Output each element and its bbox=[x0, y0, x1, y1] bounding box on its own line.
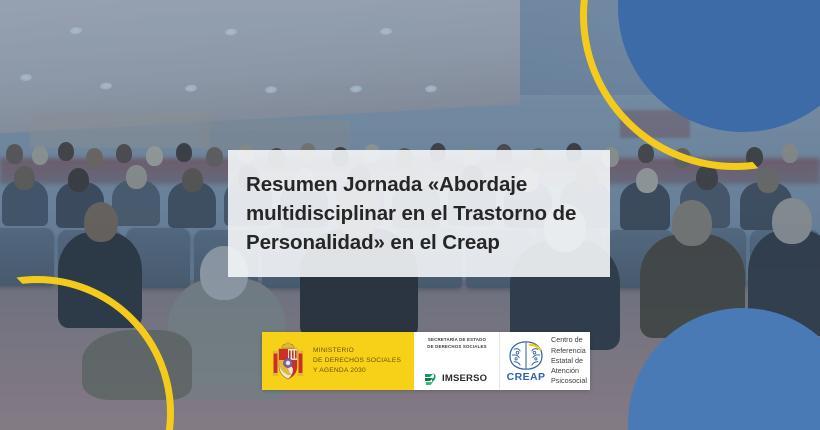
ministry-logo-text: MINISTERIO DE DERECHOS SOCIALES Y AGENDA… bbox=[313, 346, 401, 376]
creap-description: Centro de Referencia Estatal de Atención… bbox=[551, 335, 587, 386]
imserso-logo: SECRETARÍA DE ESTADO DE DERECHOS SOCIALE… bbox=[414, 332, 499, 390]
creap-desc-line-3: Estatal de bbox=[551, 356, 587, 366]
ministry-line-1: MINISTERIO bbox=[313, 346, 401, 356]
creap-desc-line-5: Psicosocial bbox=[551, 376, 587, 386]
imserso-mark-icon bbox=[423, 371, 438, 386]
creap-desc-line-2: Referencia bbox=[551, 346, 587, 356]
imserso-wordmark: IMSERSO bbox=[442, 373, 487, 384]
creap-desc-line-1: Centro de bbox=[551, 335, 587, 345]
title-card: Resumen Jornada «Abordaje multidisciplin… bbox=[228, 150, 610, 277]
ministry-logo: MINISTERIO DE DERECHOS SOCIALES Y AGENDA… bbox=[262, 332, 414, 390]
page-title: Resumen Jornada «Abordaje multidisciplin… bbox=[228, 170, 610, 257]
creap-wordmark: CREAP bbox=[507, 371, 546, 383]
secretary-line-2: DE DERECHOS SOCIALES bbox=[419, 344, 495, 351]
brain-icon bbox=[506, 340, 546, 372]
logo-bar: MINISTERIO DE DERECHOS SOCIALES Y AGENDA… bbox=[262, 332, 590, 390]
ministry-line-2: DE DERECHOS SOCIALES bbox=[313, 356, 401, 366]
creap-mark: CREAP bbox=[504, 338, 548, 384]
creap-desc-line-4: Atención bbox=[551, 366, 587, 376]
creap-logo: CREAP Centro de Referencia Estatal de At… bbox=[499, 332, 590, 390]
imserso-wordmark-row: IMSERSO bbox=[419, 371, 495, 386]
secretary-line-1: SECRETARÍA DE ESTADO bbox=[419, 337, 495, 344]
spain-coat-of-arms-icon bbox=[271, 340, 305, 382]
ministry-line-3: Y AGENDA 2030 bbox=[313, 366, 401, 376]
event-banner: Resumen Jornada «Abordaje multidisciplin… bbox=[0, 0, 820, 430]
secretary-of-state-text: SECRETARÍA DE ESTADO DE DERECHOS SOCIALE… bbox=[419, 337, 495, 351]
